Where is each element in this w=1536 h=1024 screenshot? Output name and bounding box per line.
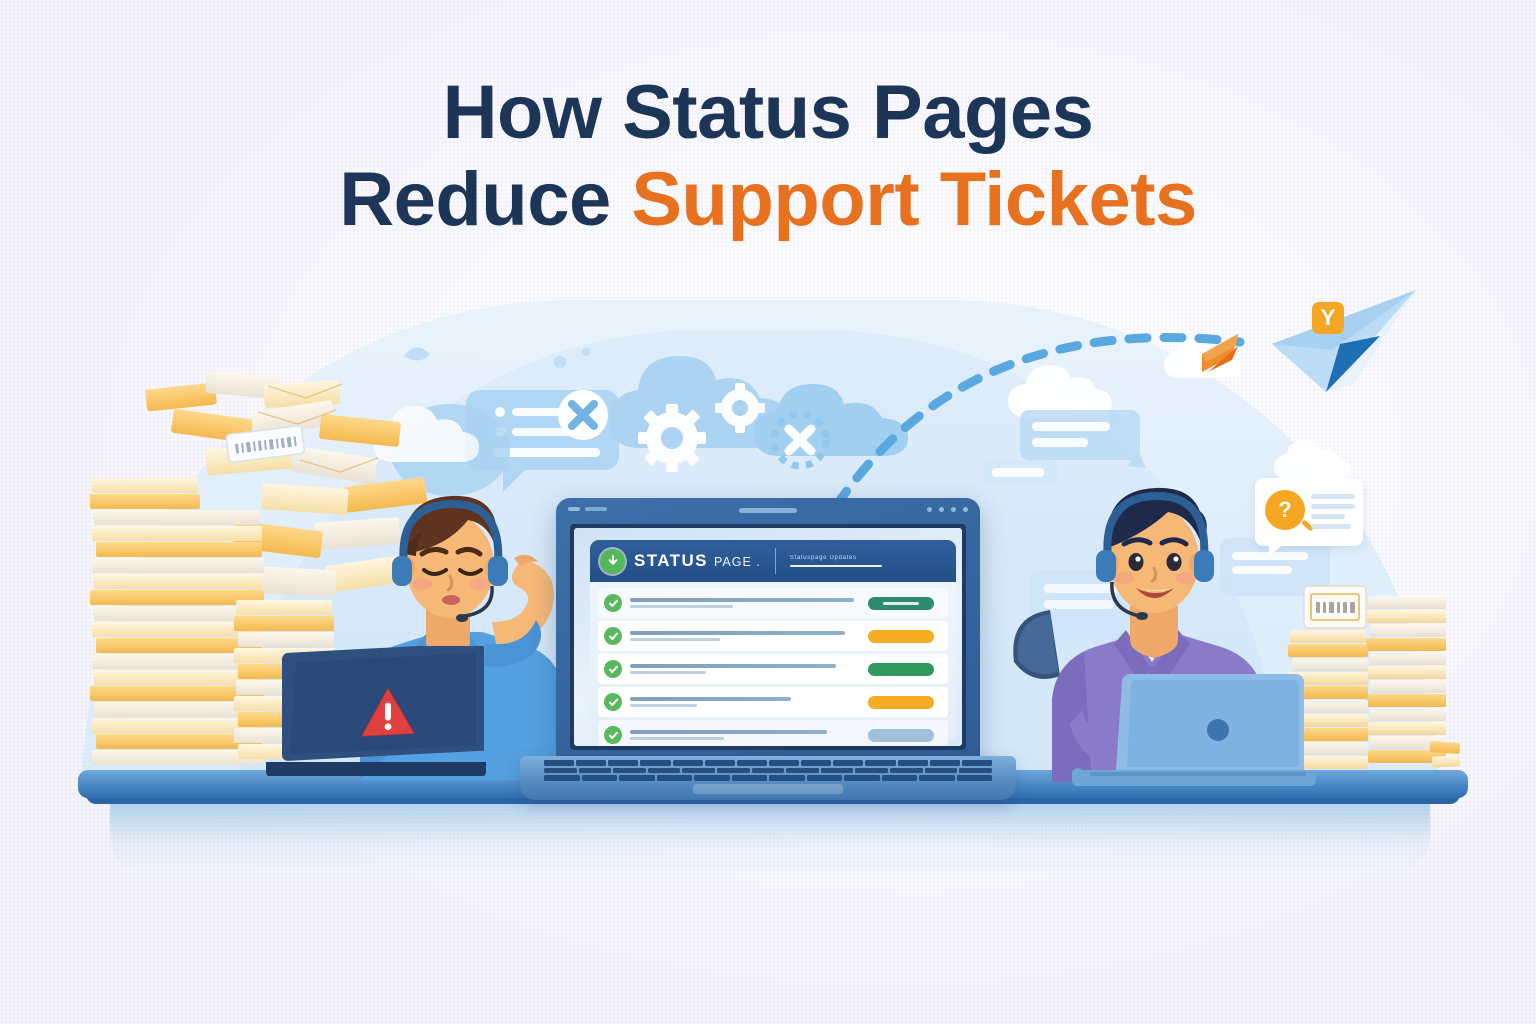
status-page-header: STATUS PAGE . Statuspage Updates [590, 540, 956, 582]
laptop-bezel: STATUS PAGE . Statuspage Updates [570, 524, 966, 750]
status-row-badge-cell [854, 729, 948, 742]
status-page-brand: STATUS PAGE . [634, 551, 761, 571]
status-row-badge-cell [854, 663, 948, 676]
desk-reflection [110, 802, 1430, 876]
left-agent-laptop [266, 646, 486, 776]
laptop-top-right-indicators [927, 507, 968, 512]
faq-card-text-lines [1311, 494, 1355, 529]
status-row-label-placeholder [630, 730, 854, 740]
status-row-label-placeholder [630, 598, 854, 608]
status-page-meta-text: Statuspage Updates [790, 555, 882, 561]
laptop-lid: STATUS PAGE . Statuspage Updates [556, 498, 980, 766]
check-circle-icon [604, 726, 622, 744]
page-title: How Status Pages Reduce Support Tickets [0, 70, 1536, 243]
status-row[interactable] [598, 687, 948, 717]
laptop-camera-bar [739, 508, 797, 513]
status-page-brand-secondary: PAGE . [714, 555, 761, 569]
check-circle-icon [604, 693, 622, 711]
status-row-badge-cell [854, 630, 948, 643]
keyboard-row [544, 768, 992, 774]
status-row-label-placeholder [630, 631, 854, 641]
keyboard-row [544, 775, 992, 781]
status-row[interactable] [598, 654, 948, 684]
status-badge[interactable] [868, 630, 934, 643]
status-row-badge-cell [854, 696, 948, 709]
check-circle-icon [604, 594, 622, 612]
title-line-2-plain: Reduce [339, 157, 631, 242]
laptop-base [520, 756, 1016, 800]
status-page-meta-rule [790, 565, 882, 567]
title-line-2-accent: Support Tickets [631, 157, 1196, 242]
status-row-label-placeholder [630, 697, 854, 707]
laptop-trackpad [693, 784, 843, 794]
status-row-label-placeholder [630, 664, 854, 674]
status-page-header-divider [775, 548, 776, 574]
title-line-1: How Status Pages [0, 70, 1536, 157]
right-agent-laptop [1072, 668, 1322, 788]
laptop-keyboard [544, 760, 992, 781]
check-circle-icon [604, 660, 622, 678]
status-page-body [590, 582, 956, 740]
status-badge[interactable] [868, 696, 934, 709]
svg-text:Y: Y [1321, 305, 1336, 330]
status-page-laptop: STATUS PAGE . Statuspage Updates [556, 498, 980, 798]
paper-plane-icon: Y [1272, 290, 1416, 392]
status-page-meta: Statuspage Updates [790, 555, 882, 567]
status-row[interactable] [598, 621, 948, 651]
check-circle-icon [604, 627, 622, 645]
status-badge[interactable] [868, 663, 934, 676]
status-row[interactable] [598, 588, 948, 618]
status-page-brand-primary: STATUS [634, 551, 708, 570]
status-row-badge-cell [854, 597, 948, 610]
download-arrow-circle-icon [600, 549, 625, 574]
status-badge[interactable] [868, 729, 934, 742]
status-badge[interactable] [868, 597, 934, 610]
illustration-canvas: STATUS PAGE . Statuspage Updates [0, 0, 1536, 1024]
keyboard-row [544, 760, 992, 766]
laptop-top-left-indicators [568, 507, 607, 511]
status-page-row-list [598, 588, 948, 746]
title-line-2: Reduce Support Tickets [0, 157, 1536, 244]
status-row[interactable] [598, 720, 948, 746]
status-page-screen: STATUS PAGE . Statuspage Updates [574, 528, 962, 746]
